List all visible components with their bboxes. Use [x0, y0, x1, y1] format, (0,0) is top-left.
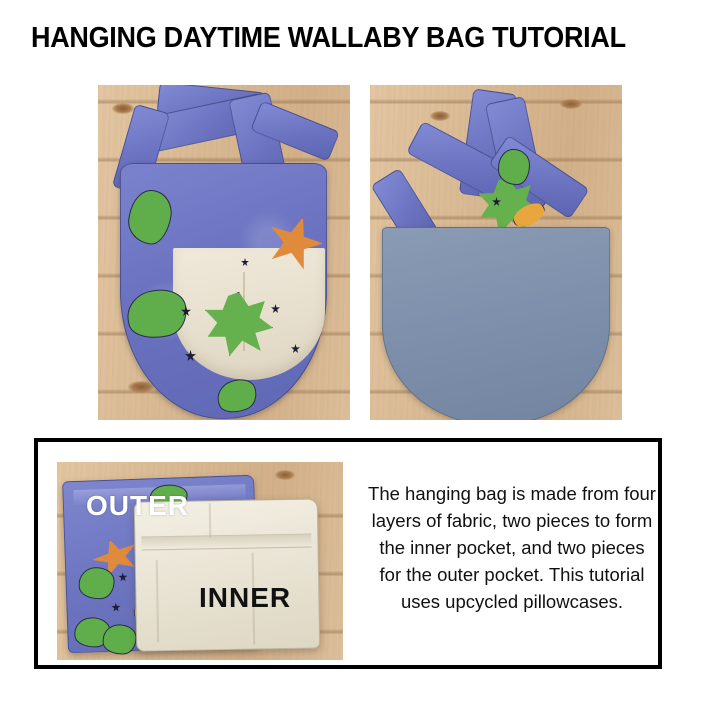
bag-outer-body — [120, 163, 327, 419]
bag-inner-pocket — [173, 248, 325, 380]
wood-knot-icon — [560, 99, 582, 109]
star-speck-icon — [111, 602, 120, 611]
creature-print-icon — [102, 624, 137, 655]
wood-knot-icon — [112, 103, 134, 114]
creature-print-icon — [213, 374, 262, 418]
fabric-pieces-photo: OUTER INNER — [57, 462, 343, 660]
inner-fabric-label: INNER — [199, 582, 291, 614]
wood-knot-icon — [275, 470, 295, 480]
fabric-hem-edge — [141, 534, 311, 551]
front-view-photo: FRONT — [98, 85, 350, 420]
page-title: HANGING DAYTIME WALLABY BAG TUTORIAL — [31, 22, 626, 55]
back-view-photo: BACK — [370, 85, 622, 420]
star-speck-icon — [118, 572, 127, 581]
outer-fabric-label: OUTER — [86, 490, 189, 522]
creature-print-icon — [74, 617, 111, 648]
wood-knot-icon — [430, 111, 450, 121]
creature-print-icon — [125, 187, 176, 247]
bag-back-panel — [382, 227, 610, 420]
creature-print-icon — [78, 567, 115, 600]
fabric-crease — [156, 560, 159, 642]
fabric-crease — [209, 503, 212, 537]
info-panel-body-text: The hanging bag is made from four layers… — [366, 480, 658, 615]
